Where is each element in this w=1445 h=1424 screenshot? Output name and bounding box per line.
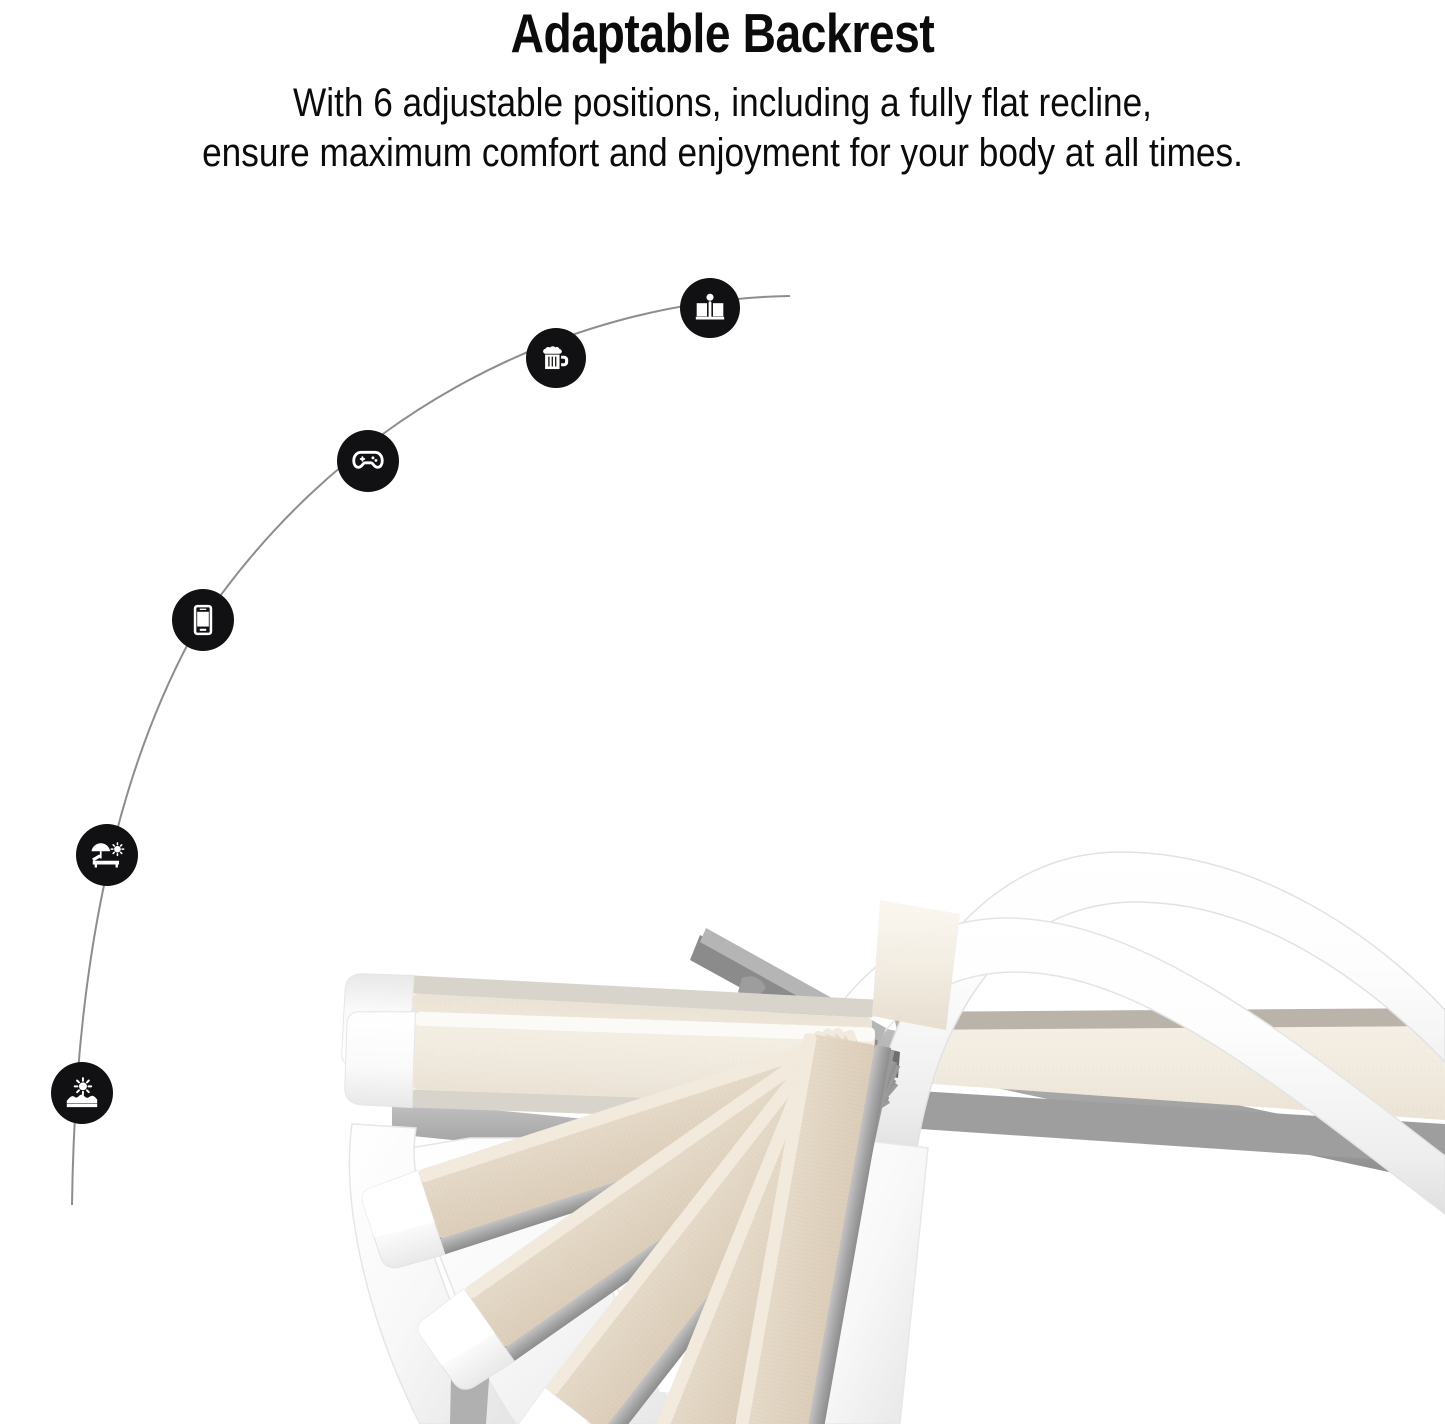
reading-icon[interactable] — [680, 278, 740, 338]
gaming-icon[interactable] — [337, 430, 399, 492]
sunbathing-icon[interactable] — [76, 824, 138, 886]
drink-icon[interactable] — [526, 328, 586, 388]
mobile-icon[interactable] — [172, 589, 234, 651]
backrest-rear-fabric — [872, 900, 960, 1030]
product-illustration — [0, 0, 1445, 1424]
reading-glyph — [693, 291, 727, 325]
smartphone-glyph — [186, 603, 220, 637]
infographic-canvas: Adaptable Backrest With 6 adjustable pos… — [0, 0, 1445, 1424]
sun-horizon-glyph — [63, 1074, 101, 1112]
beer-mug-glyph — [539, 341, 573, 375]
beach-lounger-glyph — [88, 836, 126, 874]
sunset-icon[interactable] — [51, 1062, 113, 1124]
gamepad-glyph — [350, 443, 386, 479]
